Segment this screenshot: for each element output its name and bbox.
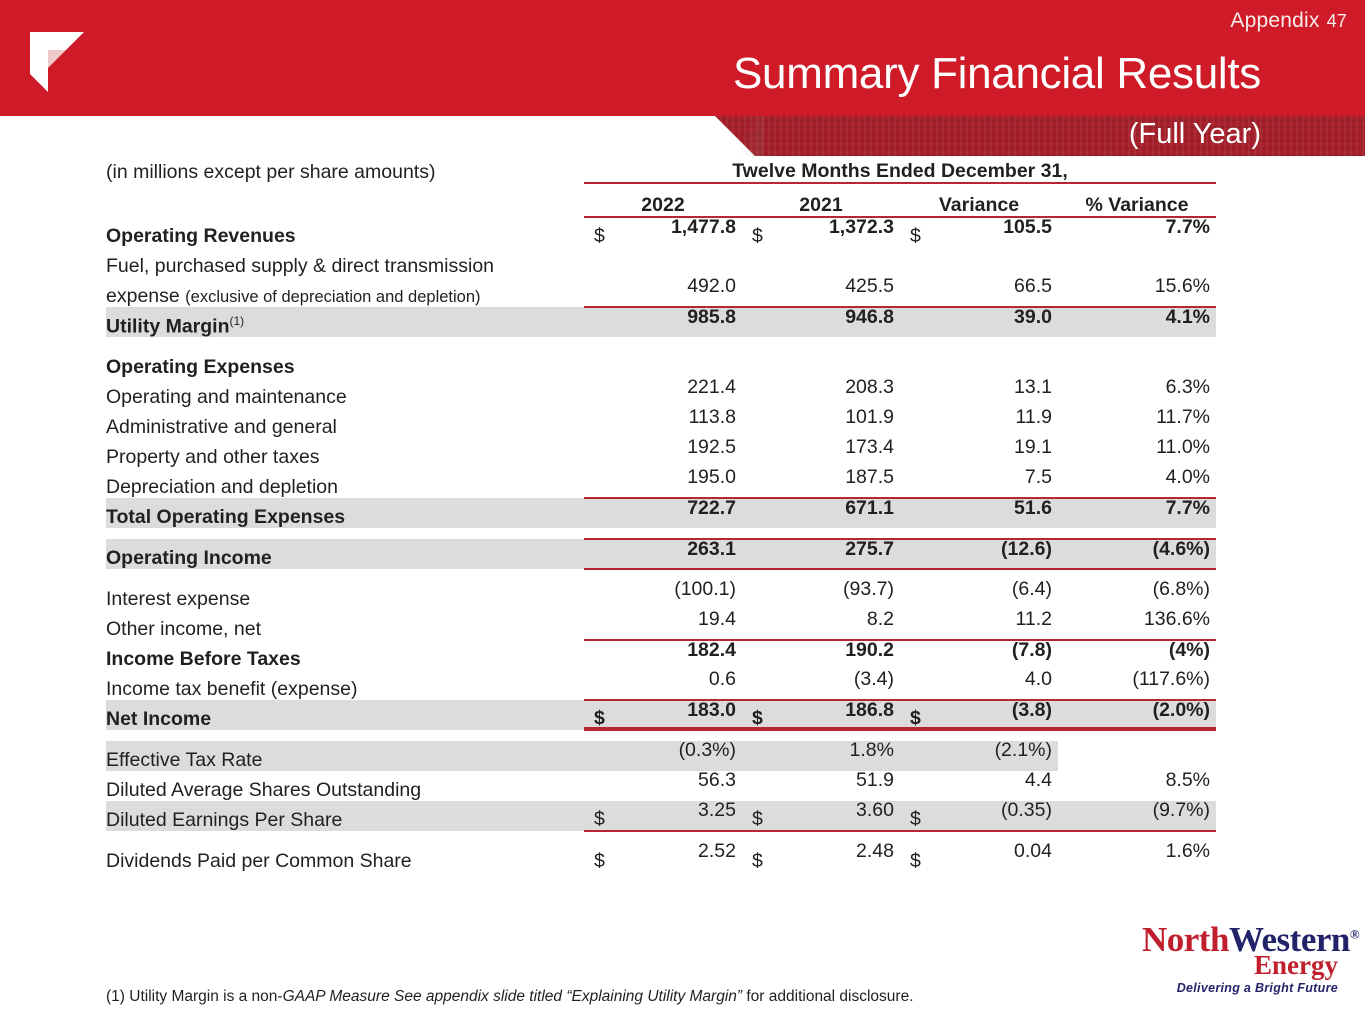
cell-value: 4.1% <box>1166 308 1210 328</box>
cell-value: (117.6%) <box>1132 670 1210 690</box>
row-cell: 51.9 <box>742 771 900 801</box>
row-cell: 136.6% <box>1058 610 1216 640</box>
cell-value: 101.9 <box>845 408 894 428</box>
row-label: Depreciation and depletion <box>106 468 584 498</box>
row-cell: $2.52 <box>584 842 742 872</box>
row-label: Income Before Taxes <box>106 640 584 670</box>
row-cell: 15.6% <box>1058 277 1216 307</box>
row-cell: 7.5 <box>900 468 1058 498</box>
logo-tagline: Delivering a Bright Future <box>1177 981 1338 995</box>
cell-value: 56.3 <box>698 771 736 791</box>
cell-value: 425.5 <box>845 277 894 297</box>
row-label-main: expense <box>106 285 180 307</box>
row-cell: (12.6) <box>900 539 1058 569</box>
cell-value: 19.4 <box>698 610 736 630</box>
cell-value: 2.52 <box>698 842 736 862</box>
table-row: Effective Tax Rate (0.3%) 1.8% (2.1%) <box>106 741 1216 771</box>
row-cell: 8.2 <box>742 610 900 640</box>
row-label: Operating and maintenance <box>106 378 584 408</box>
row-cell: 6.3% <box>1058 378 1216 408</box>
row-label-text: Utility Margin <box>106 315 230 337</box>
cell-value: 51.9 <box>856 771 894 791</box>
row-label: Total Operating Expenses <box>106 498 584 528</box>
cell-value: (6.4) <box>1012 580 1052 600</box>
financial-results-table: (in millions except per share amounts) T… <box>106 162 1216 872</box>
row-cell: 7.7% <box>1058 217 1216 247</box>
cell-value: 492.0 <box>687 277 736 297</box>
cell-value: 195.0 <box>687 468 736 488</box>
row-cell: 13.1 <box>900 378 1058 408</box>
cell-value: 0.04 <box>1014 842 1052 862</box>
row-cell: 4.0% <box>1058 468 1216 498</box>
row-label: Fuel, purchased supply & direct transmis… <box>106 247 584 277</box>
row-cell: 11.2 <box>900 610 1058 640</box>
units-note: (in millions except per share amounts) <box>106 162 584 183</box>
cell-value: 136.6% <box>1144 610 1210 630</box>
cell-value: 263.1 <box>687 540 736 560</box>
row-cell: (9.7%) <box>1058 801 1216 831</box>
cell-value: 105.5 <box>1003 218 1052 238</box>
row-cell: (4.6%) <box>1058 539 1216 569</box>
footnote-prefix: (1) Utility Margin is a non- <box>106 988 283 1005</box>
header-subband-bevel <box>718 116 764 156</box>
row-cell: $3.25 <box>584 801 742 831</box>
cell-value: 113.8 <box>689 408 736 428</box>
row-cell: (100.1) <box>584 580 742 610</box>
row-cell: (93.7) <box>742 580 900 610</box>
cell-value: 946.8 <box>845 308 894 328</box>
currency-symbol: $ <box>910 227 921 247</box>
cell-value: 15.6% <box>1155 277 1210 297</box>
row-label: Operating Income <box>106 539 584 569</box>
row-cell <box>1058 741 1216 771</box>
appendix-label: Appendix <box>1230 9 1319 32</box>
cell-value: 7.7% <box>1166 218 1210 238</box>
cell-value: 4.0% <box>1166 468 1210 488</box>
cell-value: 208.3 <box>845 378 894 398</box>
cell-value: 39.0 <box>1014 308 1052 328</box>
cell-value: 1,477.8 <box>671 218 736 238</box>
table-row: Fuel, purchased supply & direct transmis… <box>106 247 1216 277</box>
row-label-parenthetical: (exclusive of depreciation and depletion… <box>185 288 480 306</box>
row-label: Utility Margin(1) <box>106 307 584 337</box>
row-cell: 51.6 <box>900 498 1058 528</box>
row-cell: 1.6% <box>1058 842 1216 872</box>
cell-value: (12.6) <box>1001 540 1052 560</box>
table-row: Administrative and general 113.8 101.9 1… <box>106 408 1216 438</box>
row-label: Effective Tax Rate <box>106 741 584 771</box>
row-cell: (3.4) <box>742 670 900 700</box>
row-label: Income tax benefit (expense) <box>106 670 584 700</box>
cell-value: 173.4 <box>845 438 894 458</box>
currency-symbol: $ <box>594 852 605 872</box>
northwestern-corner-arrow-icon <box>26 26 88 98</box>
cell-value: 182.4 <box>687 641 736 661</box>
cell-value: 8.2 <box>867 610 894 630</box>
cell-value: 192.5 <box>687 438 736 458</box>
row-cell: 4.0 <box>900 670 1058 700</box>
cell-value: 13.1 <box>1014 378 1052 398</box>
table-units-and-span-header: (in millions except per share amounts) T… <box>106 162 1216 183</box>
row-cell: $2.48 <box>742 842 900 872</box>
column-header-2022: 2022 <box>584 183 742 217</box>
slide-canvas: Appendix47 Summary Financial Results (Fu… <box>0 0 1365 1024</box>
table-row: Total Operating Expenses 722.7 671.1 51.… <box>106 498 1216 528</box>
table-row: Net Income $183.0 $186.8 $(3.8) (2.0%) <box>106 700 1216 730</box>
row-cell: 1.8% <box>742 741 900 771</box>
table-row: Dividends Paid per Common Share $2.52 $2… <box>106 842 1216 872</box>
row-cell: $1,477.8 <box>584 217 742 247</box>
currency-symbol: $ <box>752 810 763 830</box>
cell-value: (100.1) <box>674 580 736 600</box>
row-cell: 0.6 <box>584 670 742 700</box>
currency-symbol: $ <box>752 227 763 247</box>
table-row: Property and other taxes 192.5 173.4 19.… <box>106 438 1216 468</box>
logo-word-north: North <box>1142 920 1229 959</box>
row-cell: (7.8) <box>900 640 1058 670</box>
cell-value: 51.6 <box>1014 499 1052 519</box>
cell-value: (7.8) <box>1012 641 1052 661</box>
row-cell: (6.8%) <box>1058 580 1216 610</box>
table-row: Income tax benefit (expense) 0.6 (3.4) 4… <box>106 670 1216 700</box>
cell-value: 186.8 <box>845 701 894 721</box>
cell-value: 7.7% <box>1166 499 1210 519</box>
cell-value: 183.0 <box>687 701 736 721</box>
cell-value: 187.5 <box>845 468 894 488</box>
page-subtitle: (Full Year) <box>1129 118 1261 151</box>
logo-word-energy: Energy <box>1254 950 1338 981</box>
row-cell: 187.5 <box>742 468 900 498</box>
cell-value: (4.6%) <box>1153 540 1210 560</box>
row-label: Operating Revenues <box>106 217 584 247</box>
cell-value: 3.25 <box>698 801 736 821</box>
row-label: Interest expense <box>106 580 584 610</box>
cell-value: 985.8 <box>687 308 736 328</box>
row-cell: $(0.35) <box>900 801 1058 831</box>
cell-value: (9.7%) <box>1153 801 1210 821</box>
currency-symbol: $ <box>752 709 763 729</box>
row-cell: 722.7 <box>584 498 742 528</box>
cell-value: (2.1%) <box>995 741 1052 761</box>
row-label: expense (exclusive of depreciation and d… <box>106 277 584 307</box>
table-row: Operating and maintenance 221.4 208.3 13… <box>106 378 1216 408</box>
cell-value: 6.3% <box>1166 378 1210 398</box>
table-row: Operating Expenses <box>106 348 1216 378</box>
cell-value: 221.4 <box>687 378 736 398</box>
cell-value: 1.6% <box>1166 842 1210 862</box>
footnote: (1) Utility Margin is a non-GAAP Measure… <box>106 988 914 1006</box>
column-header-pct-variance: % Variance <box>1058 183 1216 217</box>
currency-symbol: $ <box>910 852 921 872</box>
row-cell: $0.04 <box>900 842 1058 872</box>
row-cell: 985.8 <box>584 307 742 337</box>
table-row: Utility Margin(1) 985.8 946.8 39.0 4.1% <box>106 307 1216 337</box>
span-header: Twelve Months Ended December 31, <box>584 162 1216 183</box>
row-cell: 946.8 <box>742 307 900 337</box>
cell-value: (2.0%) <box>1153 701 1210 721</box>
row-cell: 66.5 <box>900 277 1058 307</box>
row-cell: 4.4 <box>900 771 1058 801</box>
row-cell: 113.8 <box>584 408 742 438</box>
row-cell: 263.1 <box>584 539 742 569</box>
northwestern-energy-logo: NorthWestern® Energy Delivering a Bright… <box>1136 918 1346 998</box>
row-label: Administrative and general <box>106 408 584 438</box>
row-cell: 7.7% <box>1058 498 1216 528</box>
appendix-indicator: Appendix47 <box>1230 9 1347 33</box>
row-cell: 221.4 <box>584 378 742 408</box>
cell-value: (3.8) <box>1012 701 1052 721</box>
cell-value: (6.8%) <box>1153 580 1210 600</box>
cell-value: 4.0 <box>1025 670 1052 690</box>
row-label: Diluted Earnings Per Share <box>106 801 584 831</box>
row-cell: 11.7% <box>1058 408 1216 438</box>
row-cell: 39.0 <box>900 307 1058 337</box>
row-cell: 173.4 <box>742 438 900 468</box>
table-row: expense (exclusive of depreciation and d… <box>106 277 1216 307</box>
row-label: Net Income <box>106 700 584 730</box>
cell-value: (4%) <box>1169 641 1210 661</box>
row-spacer <box>106 337 1216 348</box>
currency-symbol: $ <box>910 810 921 830</box>
cell-value: 0.6 <box>709 670 736 690</box>
cell-value: 11.2 <box>1015 610 1052 630</box>
row-cell: 11.9 <box>900 408 1058 438</box>
row-cell: $3.60 <box>742 801 900 831</box>
row-cell: 190.2 <box>742 640 900 670</box>
column-header-variance: Variance <box>900 183 1058 217</box>
table-row: Diluted Earnings Per Share $3.25 $3.60 $… <box>106 801 1216 831</box>
row-cell: (0.3%) <box>584 741 742 771</box>
row-label: Other income, net <box>106 610 584 640</box>
row-cell: 208.3 <box>742 378 900 408</box>
footnote-marker: (1) <box>230 314 245 328</box>
cell-value: 722.7 <box>687 499 736 519</box>
cell-value: 275.7 <box>845 540 894 560</box>
row-cell: 19.1 <box>900 438 1058 468</box>
currency-symbol: $ <box>752 852 763 872</box>
cell-value: 11.0% <box>1156 438 1210 458</box>
page-title: Summary Financial Results <box>733 49 1261 99</box>
row-cell: (6.4) <box>900 580 1058 610</box>
row-cell: 671.1 <box>742 498 900 528</box>
row-cell: 492.0 <box>584 277 742 307</box>
row-spacer <box>106 528 1216 539</box>
row-cell: 8.5% <box>1058 771 1216 801</box>
row-cell: 11.0% <box>1058 438 1216 468</box>
cell-value: 8.5% <box>1166 771 1210 791</box>
row-cell: $183.0 <box>584 700 742 730</box>
cell-value: 4.4 <box>1025 771 1052 791</box>
currency-symbol: $ <box>594 810 605 830</box>
cell-value: 2.48 <box>856 842 894 862</box>
row-cell: 182.4 <box>584 640 742 670</box>
row-cell: 192.5 <box>584 438 742 468</box>
footnote-suffix: for additional disclosure. <box>742 988 913 1005</box>
logo-trademark: ® <box>1350 926 1359 941</box>
row-cell: $(3.8) <box>900 700 1058 730</box>
table-row: Interest expense (100.1) (93.7) (6.4) (6… <box>106 580 1216 610</box>
currency-symbol: $ <box>594 227 605 247</box>
cell-value: (0.3%) <box>679 741 736 761</box>
table-column-header-row: 2022 2021 Variance % Variance <box>106 183 1216 217</box>
cell-value: 671.1 <box>845 499 894 519</box>
row-cell: (2.0%) <box>1058 700 1216 730</box>
row-cell: 4.1% <box>1058 307 1216 337</box>
table-row: Operating Income 263.1 275.7 (12.6) (4.6… <box>106 539 1216 569</box>
cell-value: (93.7) <box>843 580 894 600</box>
row-cell: 56.3 <box>584 771 742 801</box>
row-cell: (4%) <box>1058 640 1216 670</box>
row-label: Property and other taxes <box>106 438 584 468</box>
row-label: Diluted Average Shares Outstanding <box>106 771 584 801</box>
page-number: 47 <box>1327 11 1347 31</box>
footnote-italic: GAAP Measure See appendix slide titled “… <box>283 988 742 1005</box>
currency-symbol: $ <box>910 709 921 729</box>
cell-value: 11.9 <box>1015 408 1052 428</box>
cell-value: 19.1 <box>1014 438 1052 458</box>
table-row: Depreciation and depletion 195.0 187.5 7… <box>106 468 1216 498</box>
row-cell: (117.6%) <box>1058 670 1216 700</box>
currency-symbol: $ <box>594 709 605 729</box>
row-cell: $105.5 <box>900 217 1058 247</box>
row-cell: 275.7 <box>742 539 900 569</box>
cell-value: 66.5 <box>1014 277 1052 297</box>
table-row: Other income, net 19.4 8.2 11.2 136.6% <box>106 610 1216 640</box>
table-row: Income Before Taxes 182.4 190.2 (7.8) (4… <box>106 640 1216 670</box>
cell-value: (0.35) <box>1001 801 1052 821</box>
cell-value: 1.8% <box>850 741 894 761</box>
row-cell: 19.4 <box>584 610 742 640</box>
row-cell: $1,372.3 <box>742 217 900 247</box>
column-header-2021: 2021 <box>742 183 900 217</box>
cell-value: 3.60 <box>856 801 894 821</box>
cell-value: 11.7% <box>1156 408 1210 428</box>
table-row: Operating Revenues $1,477.8 $1,372.3 $10… <box>106 217 1216 247</box>
row-cell: (2.1%) <box>900 741 1058 771</box>
row-label: Operating Expenses <box>106 348 584 378</box>
row-label: Dividends Paid per Common Share <box>106 842 584 872</box>
cell-value: 1,372.3 <box>829 218 894 238</box>
row-cell: 425.5 <box>742 277 900 307</box>
cell-value: 7.5 <box>1025 468 1052 488</box>
cell-value: 190.2 <box>845 641 894 661</box>
table-row: Diluted Average Shares Outstanding 56.3 … <box>106 771 1216 801</box>
row-cell: $186.8 <box>742 700 900 730</box>
row-cell: 101.9 <box>742 408 900 438</box>
row-cell: 195.0 <box>584 468 742 498</box>
cell-value: (3.4) <box>854 670 894 690</box>
